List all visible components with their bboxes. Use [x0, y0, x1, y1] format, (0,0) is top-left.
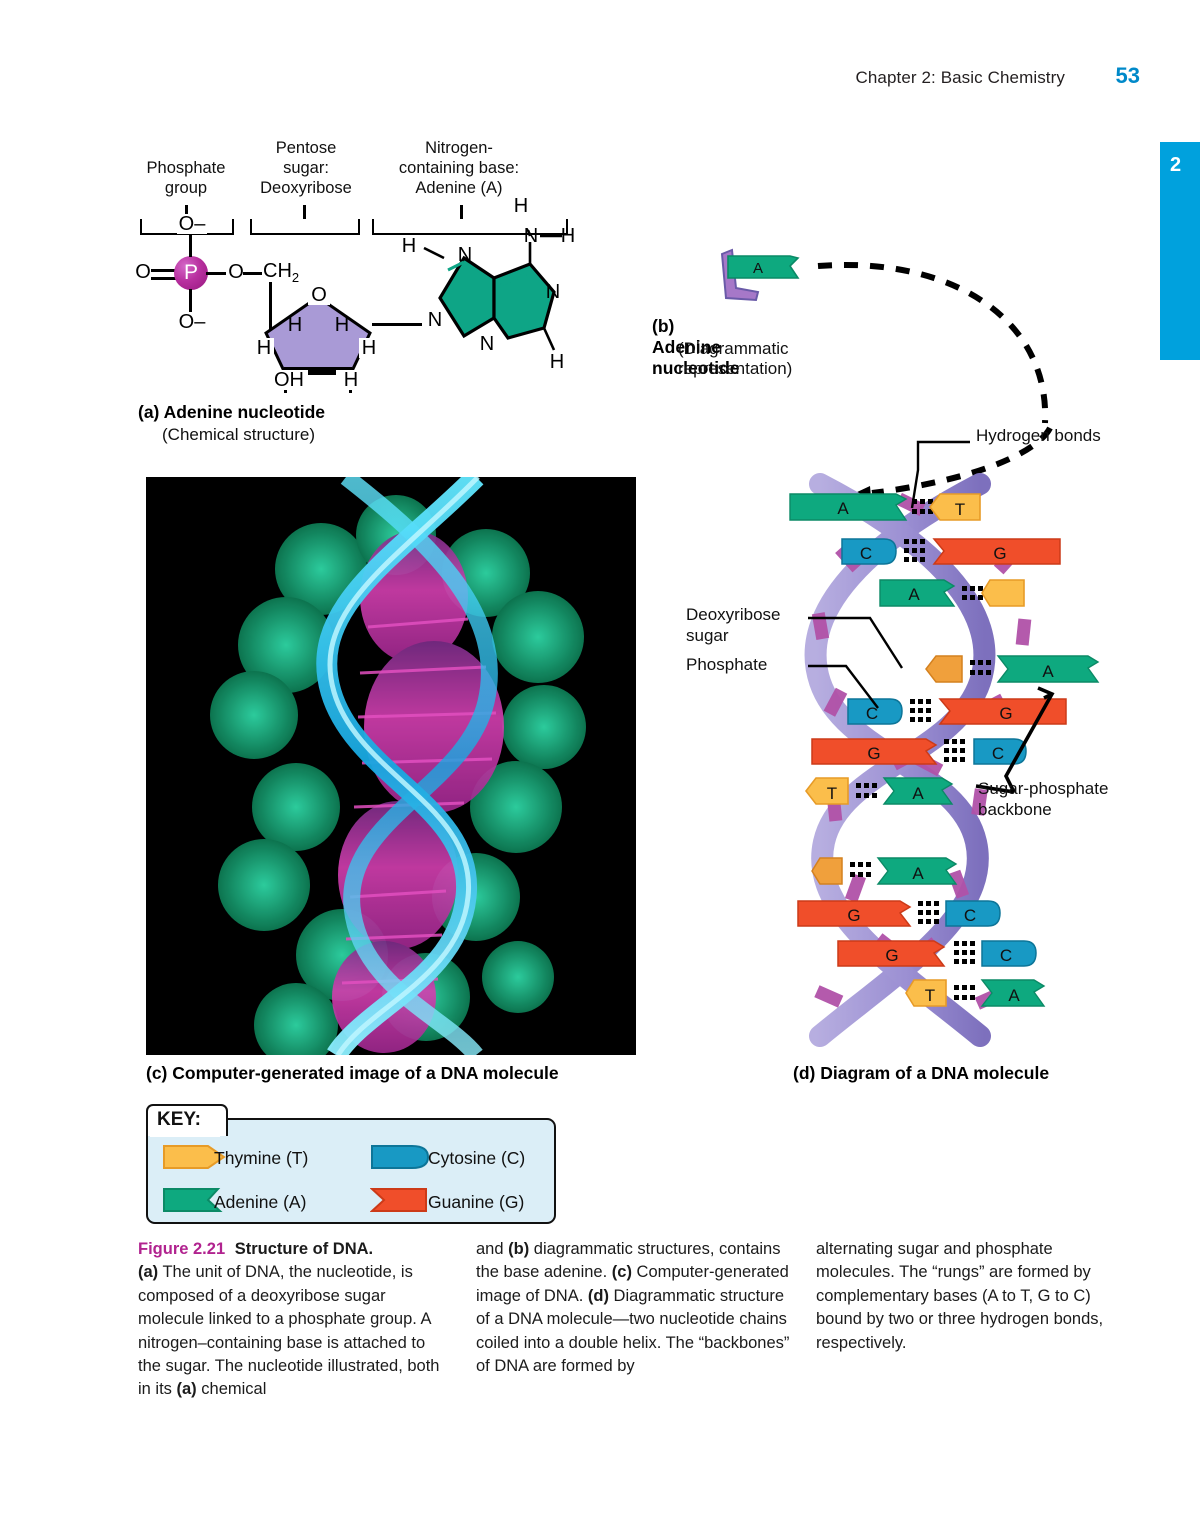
- page-number: 53: [1116, 63, 1140, 89]
- atom-base-H-amine-top: H: [511, 196, 531, 216]
- panel-c-caption: (c) Computer-generated image of a DNA mo…: [146, 1063, 559, 1084]
- key-label-adenine: Adenine (A): [214, 1192, 306, 1213]
- bond-P-Obottom: [189, 289, 192, 313]
- atom-H-lower-left: H: [254, 338, 274, 358]
- label-phosphate: Phosphate: [686, 654, 767, 675]
- atom-ring-O: O: [308, 285, 330, 305]
- bracket-2: [250, 219, 360, 235]
- caption-column-1: Figure 2.21 Structure of DNA. (a) The un…: [138, 1238, 450, 1402]
- label-sugar-phosphate-backbone: Sugar-phosphate backbone: [978, 778, 1108, 820]
- atom-base-N-right: N: [542, 282, 564, 302]
- panel-a-caption-bold: (a) Adenine nucleotide: [138, 402, 325, 423]
- caption-a-marker: (a): [138, 1263, 158, 1281]
- svg-text:G: G: [847, 906, 860, 925]
- caption-col1-text: The unit of DNA, the nucleotide, is comp…: [138, 1263, 439, 1398]
- key-label-thymine: Thymine (T): [214, 1148, 308, 1169]
- caption-a-marker-2: (a): [177, 1380, 197, 1398]
- figure-title: Structure of DNA.: [235, 1240, 373, 1258]
- caption-b-marker: (b): [508, 1240, 529, 1258]
- label-deoxyribose-sugar: Deoxyribose sugar: [686, 604, 781, 646]
- label-hydrogen-bonds: Hydrogen bonds: [976, 425, 1101, 446]
- atom-O-minus-top: O–: [177, 214, 207, 234]
- key-tab-cover: [150, 1129, 220, 1137]
- key-label-guanine: Guanine (G): [428, 1192, 524, 1213]
- caption-column-3: alternating sugar and phosphate molecule…: [816, 1238, 1128, 1355]
- atom-base-N-left: N: [424, 310, 446, 330]
- panel-a-chemical-structure: Phosphate group Pentose sugar: Deoxyribo…: [130, 130, 570, 460]
- caption-column-2: and (b) diagrammatic structures, contain…: [476, 1238, 794, 1378]
- atom-H-lower-right: H: [359, 338, 379, 358]
- adenine-ring-group: H N H N H N N N H: [402, 230, 572, 370]
- base-pair-row-11: T A: [900, 976, 1090, 1014]
- svg-text:C: C: [1000, 946, 1012, 965]
- atom-OH: OH: [270, 370, 308, 390]
- key-title: KEY:: [157, 1109, 201, 1131]
- atom-O-double: O: [133, 262, 153, 282]
- svg-text:C: C: [964, 906, 976, 925]
- base-pair-row-8: A: [806, 854, 1006, 892]
- atom-base-N-top: N: [454, 245, 476, 265]
- atom-base-H-left: H: [399, 236, 419, 256]
- label-nitrogen-base: Nitrogen- containing base: Adenine (A): [368, 138, 550, 198]
- base-pair-row-10: G C: [834, 936, 1064, 974]
- atom-base-N-amine: N: [520, 226, 542, 246]
- bracket-stem-3: [460, 205, 463, 219]
- svg-text:A: A: [912, 864, 924, 883]
- atom-base-H-amine-right: H: [558, 226, 578, 246]
- key-swatch-guanine: [370, 1186, 430, 1214]
- chapter-tab: 2: [1160, 142, 1200, 360]
- panel-b-caption-reg: (Diagrammatic representation): [678, 339, 792, 379]
- dna-photo-render: [146, 477, 636, 1055]
- atom-H-at-OH: H: [336, 370, 366, 390]
- label-pentose-sugar: Pentose sugar: Deoxyribose: [243, 138, 369, 198]
- atom-base-N-bottom: N: [476, 334, 498, 354]
- svg-text:A: A: [753, 260, 763, 277]
- chapter-tab-number: 2: [1170, 154, 1181, 177]
- panel-c-dna-photo: [146, 477, 636, 1055]
- svg-text:A: A: [1008, 986, 1020, 1005]
- key-label-cytosine: Cytosine (C): [428, 1148, 525, 1169]
- running-head: Chapter 2: Basic Chemistry: [855, 68, 1065, 88]
- base-pair-row-9: G C: [794, 896, 1024, 934]
- panel-d-caption: (d) Diagram of a DNA molecule: [793, 1063, 1049, 1084]
- atom-base-H-bottom: H: [547, 352, 567, 372]
- caption-col1-text-2: chemical: [197, 1380, 267, 1398]
- caption-d-marker: (d): [588, 1287, 609, 1305]
- bond-P-Otop: [189, 233, 192, 257]
- bracket-stem-2: [303, 205, 306, 219]
- svg-text:G: G: [885, 946, 898, 965]
- atom-O-minus-bottom: O–: [177, 312, 207, 332]
- label-phosphate-group: Phosphate group: [127, 158, 245, 198]
- atom-ring-H-right: H: [332, 315, 352, 335]
- panel-a-caption-reg: (Chemical structure): [162, 425, 315, 445]
- caption-col2-lead: and: [476, 1240, 508, 1258]
- atom-P: P: [174, 256, 208, 290]
- caption-c-marker: (c): [612, 1263, 632, 1281]
- figure-label: Figure 2.21: [138, 1240, 225, 1258]
- atom-ring-H-left: H: [285, 315, 305, 335]
- svg-text:T: T: [925, 986, 935, 1005]
- key-swatch-cytosine: [370, 1143, 430, 1171]
